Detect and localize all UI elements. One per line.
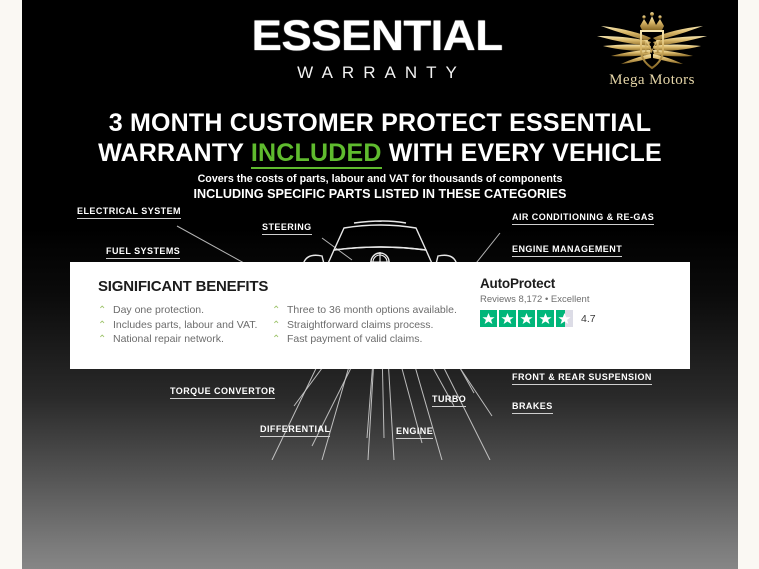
- chevron-bullet-icon: ⌃: [272, 333, 280, 347]
- poster-root: ESSENTIAL WARRANTY: [0, 0, 759, 569]
- headline-line2-after: WITH EVERY VEHICLE: [382, 139, 662, 167]
- subheadline-1: Covers the costs of parts, labour and VA…: [33, 172, 728, 186]
- label-torque-convertor: TORQUE CONVERTOR: [170, 386, 275, 399]
- title-block: ESSENTIAL WARRANTY: [222, 14, 532, 84]
- autoprotect-rating: AutoProtect Reviews 8,172 • Excellent 4.…: [480, 276, 670, 305]
- warranty-poster: ESSENTIAL WARRANTY: [22, 0, 738, 569]
- poster-header: ESSENTIAL WARRANTY: [22, 0, 738, 102]
- benefit-text: Three to 36 month options available.: [287, 304, 457, 316]
- label-engine: ENGINE: [396, 426, 433, 439]
- benefit-item: ⌃Straightforward claims process.: [272, 318, 457, 333]
- headline-line2: WARRANTY INCLUDED WITH EVERY VEHICLE: [22, 138, 738, 168]
- svg-text:M: M: [643, 36, 661, 58]
- chevron-bullet-icon: ⌃: [98, 304, 106, 318]
- benefit-item: ⌃National repair network.: [98, 332, 257, 347]
- headline-line1: 3 MONTH CUSTOMER PROTECT ESSENTIAL: [22, 108, 738, 138]
- star-icon: [499, 310, 516, 327]
- wings-crown-shield-icon: M: [577, 8, 727, 78]
- label-electrical-system: ELECTRICAL SYSTEM: [77, 206, 181, 219]
- label-front-rear-suspension: FRONT & REAR SUSPENSION: [512, 372, 652, 385]
- autoprotect-reviews: Reviews 8,172 • Excellent: [480, 294, 670, 305]
- chevron-bullet-icon: ⌃: [272, 319, 280, 333]
- benefits-column-2: ⌃Three to 36 month options available. ⌃S…: [272, 303, 457, 347]
- chevron-bullet-icon: ⌃: [98, 333, 106, 347]
- title-essential: ESSENTIAL: [213, 14, 542, 58]
- logo-wordmark: Mega Motors: [577, 72, 727, 89]
- benefit-text: Includes parts, labour and VAT.: [113, 319, 257, 331]
- chevron-bullet-icon: ⌃: [98, 319, 106, 333]
- star-half-icon: [556, 310, 573, 327]
- mega-motors-logo: M Mega Motors: [577, 8, 727, 100]
- benefit-text: Straightforward claims process.: [287, 319, 433, 331]
- star-icon: [518, 310, 535, 327]
- benefit-text: Fast payment of valid claims.: [287, 333, 422, 345]
- label-differential: DIFFERENTIAL: [260, 424, 330, 437]
- significant-benefits-panel: SIGNIFICANT BENEFITS ⌃Day one protection…: [70, 262, 690, 369]
- label-steering: STEERING: [262, 222, 312, 235]
- benefits-column-1: ⌃Day one protection. ⌃Includes parts, la…: [98, 303, 257, 347]
- label-air-conditioning-regas: AIR CONDITIONING & RE-GAS: [512, 212, 654, 225]
- star-icon: [480, 310, 497, 327]
- label-fuel-systems: FUEL SYSTEMS: [106, 246, 180, 259]
- chevron-bullet-icon: ⌃: [272, 304, 280, 318]
- rating-score: 4.7: [581, 313, 596, 325]
- star-icon: [537, 310, 554, 327]
- headline-included: INCLUDED: [251, 139, 382, 169]
- label-brakes: BRAKES: [512, 401, 553, 414]
- label-engine-management: ENGINE MANAGEMENT: [512, 244, 622, 257]
- title-warranty: WARRANTY: [222, 62, 532, 84]
- autoprotect-name: AutoProtect: [480, 276, 670, 291]
- panel-title: SIGNIFICANT BENEFITS: [98, 278, 268, 295]
- headline-line2-before: WARRANTY: [98, 139, 251, 167]
- headline: 3 MONTH CUSTOMER PROTECT ESSENTIAL WARRA…: [22, 108, 738, 168]
- benefit-item: ⌃Fast payment of valid claims.: [272, 332, 457, 347]
- benefit-item: ⌃Day one protection.: [98, 303, 257, 318]
- benefit-text: Day one protection.: [113, 304, 204, 316]
- benefit-text: National repair network.: [113, 333, 224, 345]
- benefit-item: ⌃Includes parts, labour and VAT.: [98, 318, 257, 333]
- right-margin: [738, 0, 759, 569]
- label-turbo: TURBO: [432, 394, 466, 407]
- left-margin: [0, 0, 22, 569]
- star-rating: 4.7: [480, 310, 596, 327]
- benefit-item: ⌃Three to 36 month options available.: [272, 303, 457, 318]
